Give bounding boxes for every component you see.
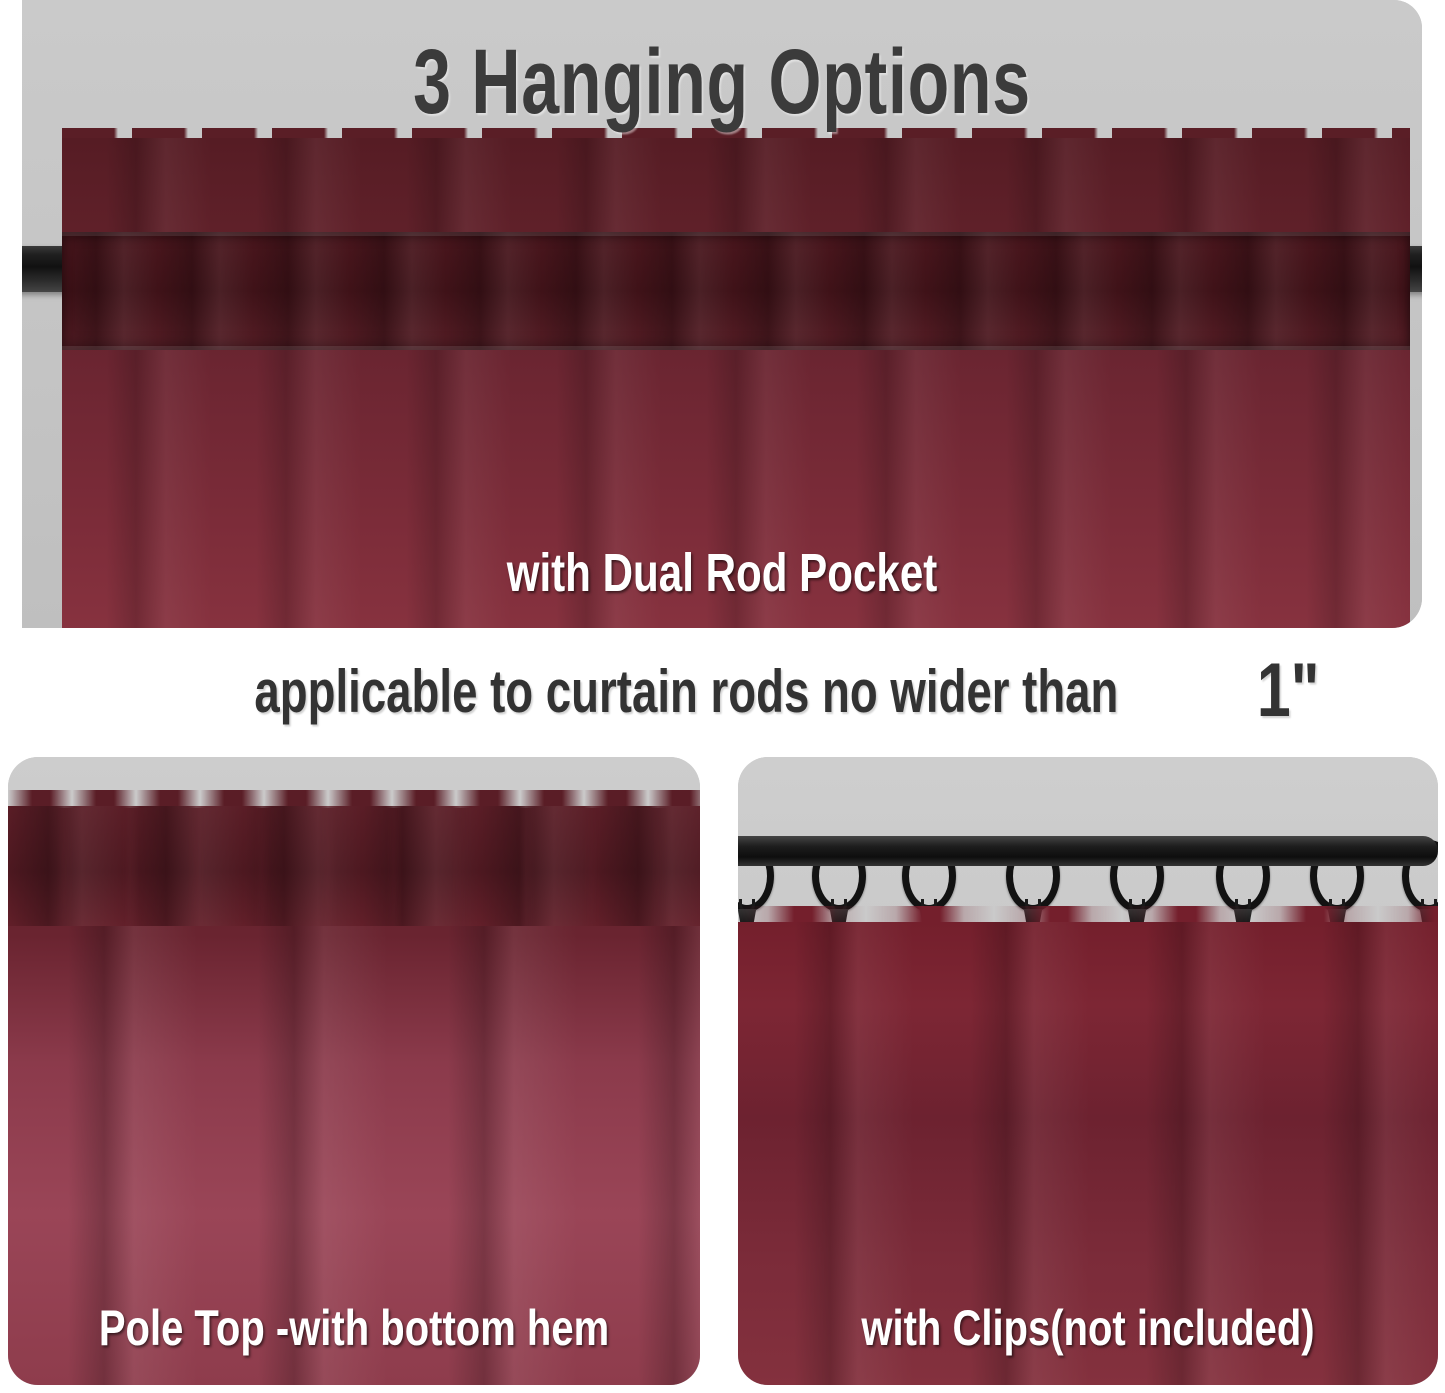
note-line: applicable to curtain rods no wider than… <box>0 643 1445 730</box>
page-title: 3 Hanging Options <box>204 36 1240 128</box>
rod-pocket-seam-upper <box>62 232 1410 236</box>
note-main-text: applicable to curtain rods no wider than <box>254 657 1118 726</box>
rod-pocket-band <box>62 232 1410 350</box>
panel-pole-top: Pole Top -with bottom hem <box>8 757 700 1385</box>
note-measure-text: 1" <box>1257 647 1320 734</box>
rod-pocket-seam-lower <box>62 346 1410 350</box>
caption-dual-rod-pocket: with Dual Rod Pocket <box>176 542 1268 604</box>
caption-clips: with Clips(not included) <box>808 1299 1368 1357</box>
curtain-rod-icon <box>738 836 1438 866</box>
caption-pole-top: Pole Top -with bottom hem <box>77 1299 631 1357</box>
panel-dual-rod-pocket: 3 Hanging Options with Dual Rod Pocket <box>22 0 1422 628</box>
curtain-top-hem <box>8 806 700 926</box>
panel-clips: with Clips(not included) <box>738 757 1438 1385</box>
